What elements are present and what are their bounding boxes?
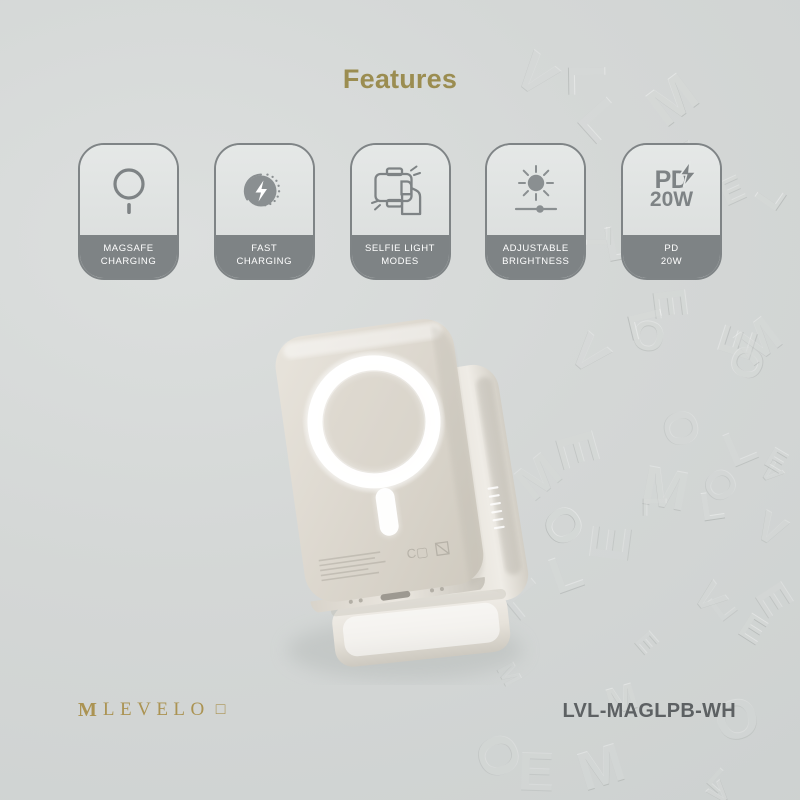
feature-card-row: MAGSAFE CHARGING [78,143,722,280]
watermark-letter: L [696,483,728,531]
feature-label-selfie-light-modes: SELFIE LIGHT MODES [352,235,449,278]
feature-card-adjustable-brightness: ADJUSTABLE BRIGHTNESS [485,143,586,280]
product-image-magsafe-power-bank: C▢ [255,295,555,685]
sun-slider-icon [487,145,584,235]
product-feature-banner: LEVMOLEVELOMLEVELOMELVOLEMVLOELMVELOEVLM… [0,0,800,800]
watermark-letter: L [635,496,673,517]
watermark-letter: E [759,441,794,481]
brand-logo: M LEVELO □ [78,700,225,720]
feature-card-magsafe-charging: MAGSAFE CHARGING [78,143,179,280]
watermark-letter: V [754,455,791,491]
watermark-letter: E [517,739,557,800]
label-line-1: MAGSAFE [103,243,153,256]
label-line-1: PD [664,243,678,256]
label-line-1: ADJUSTABLE [503,243,569,256]
product-front-unit: C▢ [272,315,489,613]
feature-label-adjustable-brightness: ADJUSTABLE BRIGHTNESS [487,235,584,278]
feature-card-selfie-light-modes: SELFIE LIGHT MODES [350,143,451,280]
feature-card-fast-charging: FAST CHARGING [214,143,315,280]
pd-20w-icon: PD 20W [623,145,720,235]
watermark-letter: L [616,304,677,346]
feature-label-magsafe-charging: MAGSAFE CHARGING [80,235,177,278]
magsafe-ring-icon [80,145,177,235]
product-sku: LVL-MAGLPB-WH [563,700,737,723]
brand-mark-icon: M [78,700,97,720]
brand-name: LEVELO [103,700,210,720]
watermark-letter: V [747,500,796,556]
watermark-letter: V [684,574,736,623]
watermark-letter: E [629,625,666,661]
watermark-letter: O [628,310,670,363]
watermark-letter: O [720,337,779,388]
hand-holding-phone-light-icon [352,145,449,235]
watermark-letter: M [570,730,633,800]
watermark-letter: O [470,724,537,789]
fast-charge-bolt-icon [216,145,313,235]
label-line-2: CHARGING [101,256,157,269]
watermark-letter: L [747,175,795,218]
bolt-icon [677,161,699,187]
page-title: Features [0,64,800,95]
watermark-letter: V [702,774,739,800]
watermark-letter: M [723,304,793,377]
label-line-1: FAST [251,243,277,256]
watermark-letter: E [745,574,800,626]
feature-card-pd-20w: PD 20W PD 20W [621,143,722,280]
watermark-letter: E [642,285,699,323]
watermark-letter: L [700,762,737,800]
watermark-letter: V [558,321,622,387]
brand-end-mark-icon: □ [216,700,226,720]
svg-text:C▢: C▢ [406,544,430,562]
watermark-letter: L [700,582,744,629]
watermark-letter: O [692,458,749,513]
watermark-letter: E [576,520,644,566]
watermark-letter: L [715,416,765,480]
watermark-letter: E [705,318,768,367]
feature-label-pd-20w: PD 20W [623,235,720,278]
watermark-letter: O [651,403,714,454]
watermark-letter: M [637,453,696,525]
feature-label-fast-charging: FAST CHARGING [216,235,313,278]
label-line-2: BRIGHTNESS [502,256,569,269]
label-line-2: CHARGING [236,256,292,269]
watermark-letter: E [732,604,776,653]
label-line-2: MODES [381,256,419,269]
label-line-2: 20W [661,256,682,269]
label-line-1: SELFIE LIGHT [365,243,435,256]
